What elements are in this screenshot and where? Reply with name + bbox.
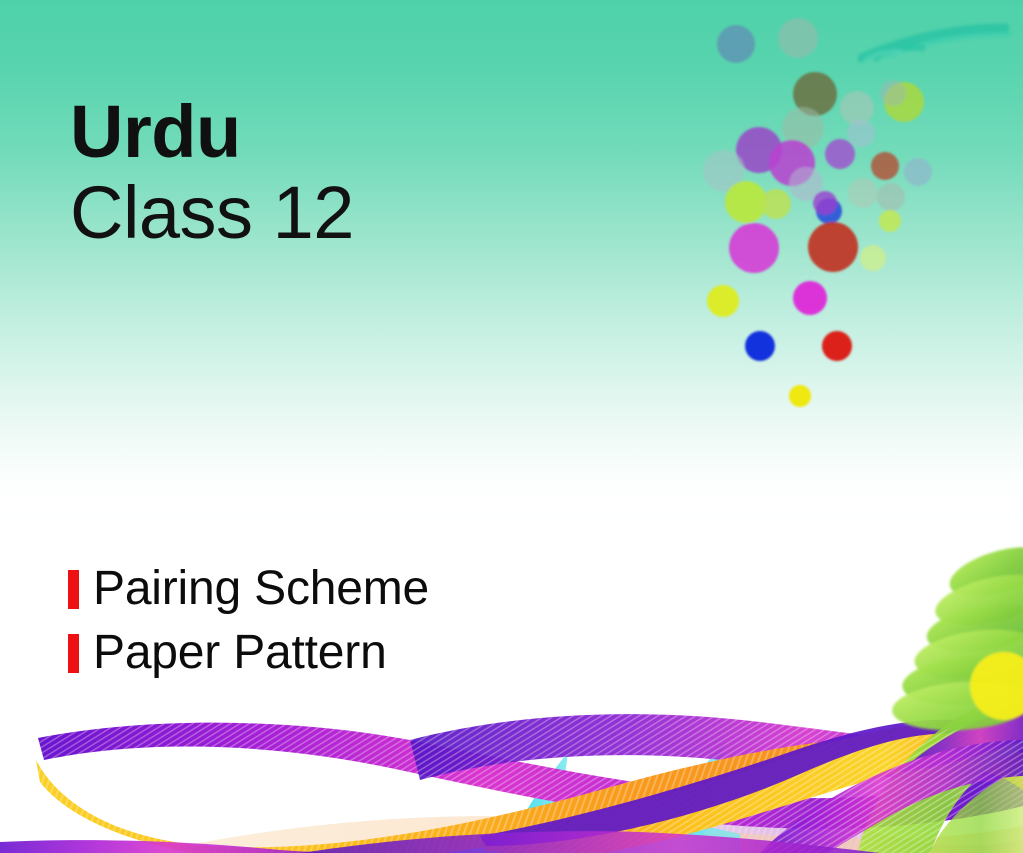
bullet-bar-icon xyxy=(68,570,79,609)
page-title-subject: Urdu xyxy=(70,96,354,167)
page-title-grade: Class 12 xyxy=(70,175,354,250)
list-item-label: Pairing Scheme xyxy=(93,565,429,613)
list-item: Paper Pattern xyxy=(68,621,429,685)
title-block: Urdu Class 12 xyxy=(70,96,354,251)
poster-canvas: Urdu Class 12 Pairing SchemePaper Patter… xyxy=(0,0,1023,853)
list-item: Pairing Scheme xyxy=(68,557,429,621)
list-item-label: Paper Pattern xyxy=(93,629,387,677)
feature-list: Pairing SchemePaper Pattern xyxy=(68,557,429,685)
bullet-bar-icon xyxy=(68,634,79,673)
